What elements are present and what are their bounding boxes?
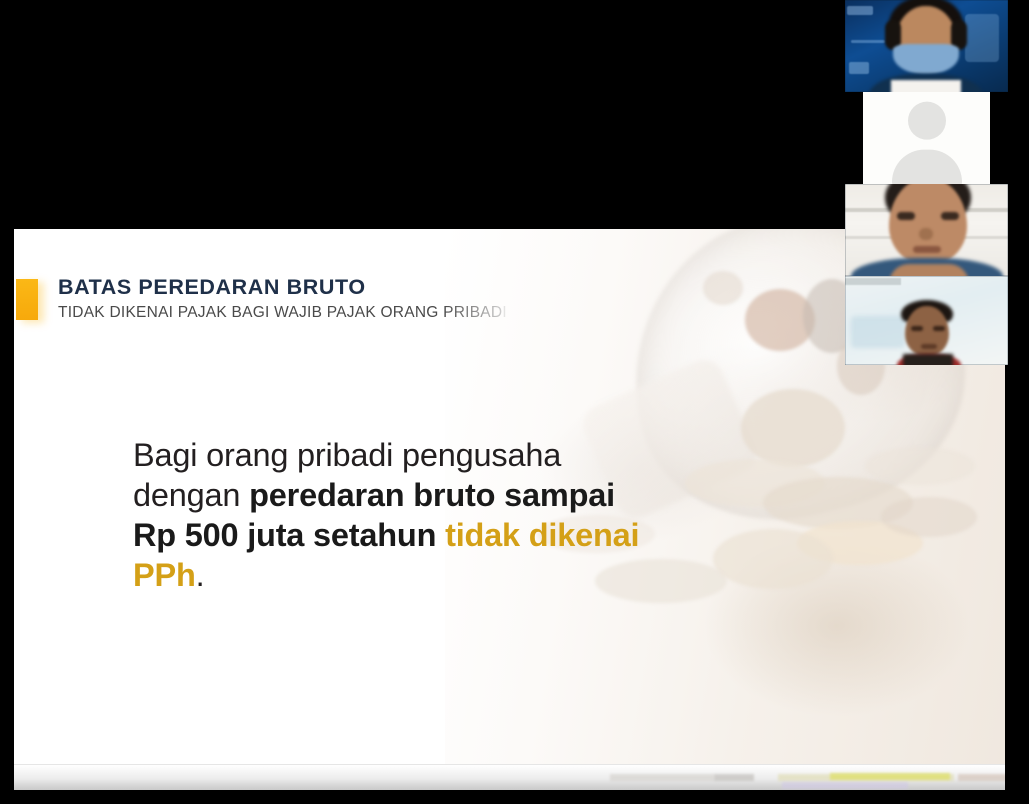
participant-tile-2[interactable] bbox=[845, 92, 1008, 184]
page-title: BATAS PEREDARAN BRUTO bbox=[58, 275, 366, 300]
slide-footer-strip bbox=[14, 764, 1005, 790]
body-line-2-bold: peredaran bruto bbox=[249, 477, 495, 513]
video-feed-2-camera-off bbox=[863, 92, 990, 184]
title-accent-bar bbox=[16, 279, 38, 320]
meeting-stage: BATAS PEREDARAN BRUTO TIDAK DIKENAI PAJA… bbox=[0, 0, 1029, 804]
page-subtitle: TIDAK DIKENAI PAJAK BAGI WAJIB PAJAK ORA… bbox=[58, 304, 507, 322]
body-line-4-tail: . bbox=[196, 557, 205, 593]
body-line-1: Bagi orang pribadi pengusaha bbox=[133, 437, 561, 473]
body-line-2-plain: dengan bbox=[133, 477, 249, 513]
video-feed-4 bbox=[845, 276, 1008, 365]
slide-body-text: Bagi orang pribadi pengusaha dengan pere… bbox=[133, 435, 653, 595]
participant-tile-1[interactable] bbox=[845, 0, 1008, 92]
participant-tile-3[interactable] bbox=[845, 184, 1008, 276]
video-feed-1 bbox=[845, 0, 1008, 92]
participant-filmstrip[interactable] bbox=[845, 0, 1008, 365]
avatar bbox=[881, 96, 973, 184]
video-feed-3 bbox=[845, 184, 1008, 276]
participant-tile-4[interactable] bbox=[845, 276, 1008, 365]
